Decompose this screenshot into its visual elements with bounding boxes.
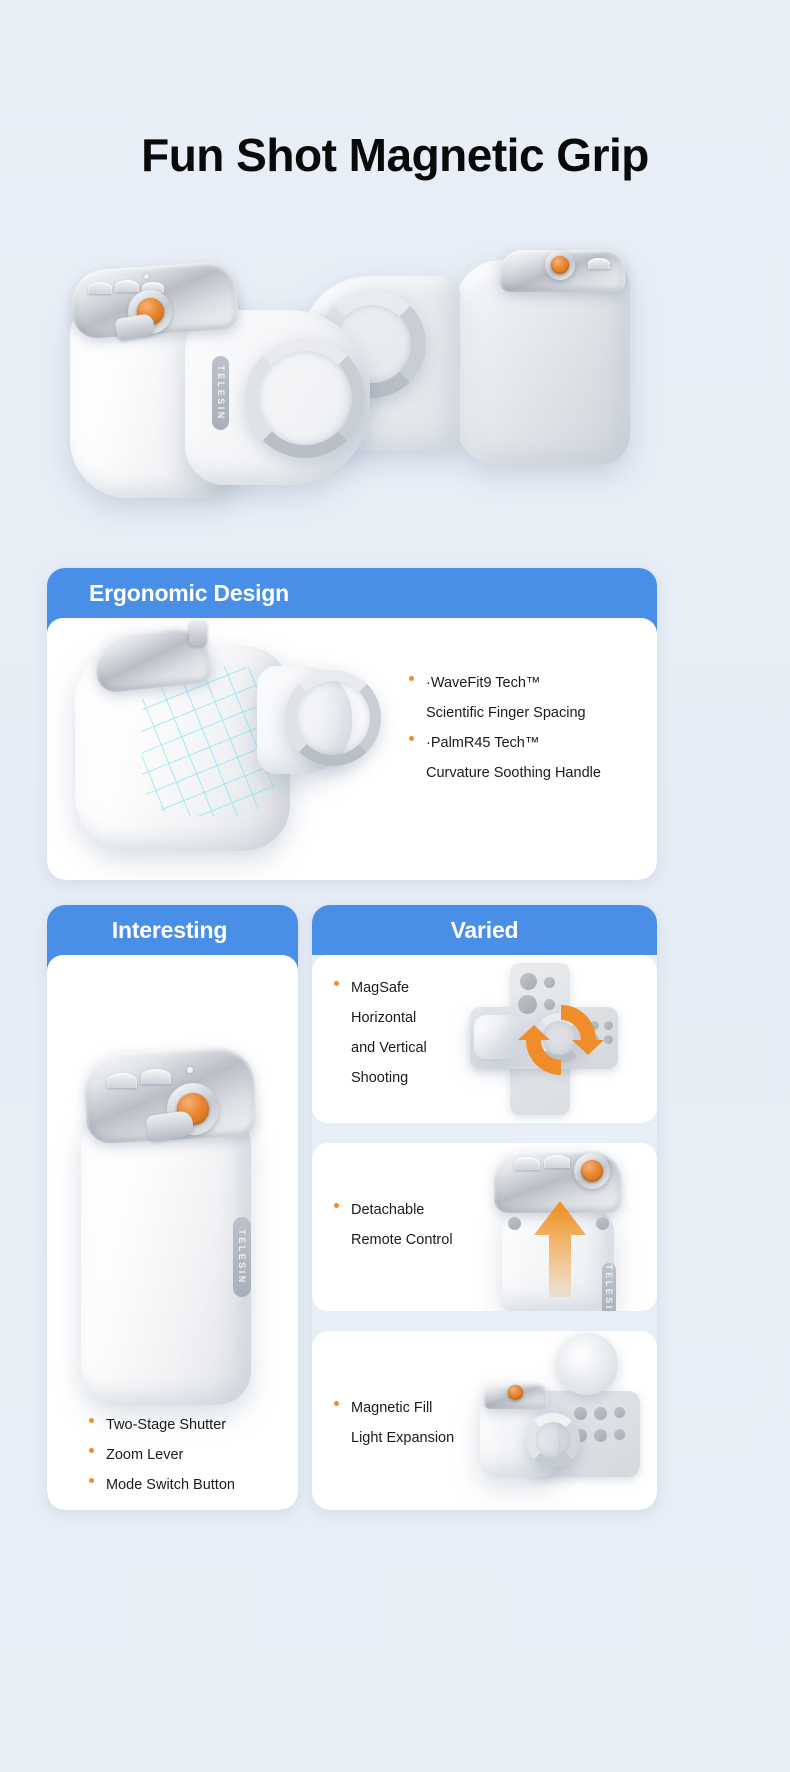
bullet-dot-icon	[334, 1401, 339, 1406]
brand-label: TELESIN	[237, 1229, 247, 1285]
bullet-dot-icon	[89, 1448, 94, 1453]
fill-light-disc	[556, 1333, 618, 1395]
bullet-text: ·WaveFit9 Tech™	[426, 668, 540, 698]
bullet-spacer-icon	[334, 1041, 339, 1046]
infographic-page: Fun Shot Magnetic Grip	[0, 0, 790, 1772]
card-title-varied: Varied	[451, 917, 519, 944]
bullet-text: Two-Stage Shutter	[106, 1410, 226, 1440]
bullet-spacer-icon	[334, 1431, 339, 1436]
subcard-fill-light: Magnetic Fill Light Expansion	[312, 1331, 657, 1510]
list-item: Shooting	[334, 1063, 427, 1093]
list-item: Light Expansion	[334, 1423, 454, 1453]
page-title: Fun Shot Magnetic Grip	[0, 128, 790, 182]
bullet-dot-icon	[334, 981, 339, 986]
bullet-text: Mode Switch Button	[106, 1470, 235, 1500]
list-item: Remote Control	[334, 1225, 453, 1255]
bullet-text: MagSafe	[351, 973, 409, 1003]
list-item: Two-Stage Shutter	[89, 1410, 235, 1440]
bullet-text: Horizontal	[351, 1003, 416, 1033]
bullet-list-ergonomic: ·WaveFit9 Tech™ Scientific Finger Spacin…	[409, 668, 601, 788]
card-header-varied: Varied	[312, 905, 657, 955]
bullet-spacer-icon	[334, 1011, 339, 1016]
list-item: Zoom Lever	[89, 1440, 235, 1470]
list-item: Scientific Finger Spacing	[409, 698, 601, 728]
list-item: Detachable	[334, 1195, 453, 1225]
bullet-text: Curvature Soothing Handle	[426, 758, 601, 788]
bullet-dot-icon	[409, 676, 414, 681]
bullet-text: Detachable	[351, 1195, 424, 1225]
bullet-spacer-icon	[409, 706, 414, 711]
bullet-text: Scientific Finger Spacing	[426, 698, 586, 728]
card-title-interesting: Interesting	[112, 917, 227, 944]
list-item: MagSafe	[334, 973, 427, 1003]
list-item: Magnetic Fill	[334, 1393, 454, 1423]
card-header-interesting: Interesting	[47, 905, 298, 955]
card-varied: Varied MagSafe Horizontal and Verti	[312, 905, 657, 1510]
list-item: Horizontal	[334, 1003, 427, 1033]
subcard-magsafe: MagSafe Horizontal and Vertical Shooting	[312, 955, 657, 1123]
list-item: and Vertical	[334, 1033, 427, 1063]
card-body-interesting: TELESIN Two-Stage Shutter Zoom Lever Mod…	[47, 955, 298, 1510]
card-title-ergonomic: Ergonomic Design	[89, 580, 289, 607]
card-ergonomic-design: Ergonomic Design ·WaveFit9 Tech™	[47, 568, 657, 880]
bullet-text: ·PalmR45 Tech™	[426, 728, 539, 758]
card-interesting: Interesting TELESIN Two-Stage Shutter	[47, 905, 298, 1510]
bullet-text: Remote Control	[351, 1225, 453, 1255]
bullet-dot-icon	[334, 1203, 339, 1208]
bullet-list-interesting: Two-Stage Shutter Zoom Lever Mode Switch…	[89, 1410, 235, 1500]
list-item: Curvature Soothing Handle	[409, 758, 601, 788]
subcard-detachable-remote: Detachable Remote Control	[312, 1143, 657, 1311]
list-item: Mode Switch Button	[89, 1470, 235, 1500]
bullet-text: Shooting	[351, 1063, 408, 1093]
rotation-arrow-icon	[518, 997, 604, 1083]
varied-subcards: MagSafe Horizontal and Vertical Shooting	[312, 955, 657, 1510]
bullet-text: Zoom Lever	[106, 1440, 183, 1470]
bullet-list-filllight: Magnetic Fill Light Expansion	[334, 1393, 454, 1453]
bullet-spacer-icon	[334, 1233, 339, 1238]
bullet-spacer-icon	[409, 766, 414, 771]
bullet-text: Magnetic Fill	[351, 1393, 432, 1423]
bullet-text: and Vertical	[351, 1033, 427, 1063]
brand-label: TELESIN	[216, 365, 226, 421]
card-header-ergonomic: Ergonomic Design	[47, 568, 657, 618]
brand-label: TELESIN	[604, 1264, 614, 1311]
bullet-dot-icon	[89, 1418, 94, 1423]
card-body-ergonomic: ·WaveFit9 Tech™ Scientific Finger Spacin…	[47, 618, 657, 880]
bullet-list-remote: Detachable Remote Control	[334, 1195, 453, 1255]
bullet-spacer-icon	[334, 1071, 339, 1076]
list-item: ·PalmR45 Tech™	[409, 728, 601, 758]
hero-product-images: TELESIN	[0, 238, 790, 538]
bullet-dot-icon	[89, 1478, 94, 1483]
list-item: ·WaveFit9 Tech™	[409, 668, 601, 698]
bullet-text: Light Expansion	[351, 1423, 454, 1453]
detach-up-arrow-icon	[534, 1201, 586, 1297]
bullet-list-magsafe: MagSafe Horizontal and Vertical Shooting	[334, 973, 427, 1093]
bullet-dot-icon	[409, 736, 414, 741]
